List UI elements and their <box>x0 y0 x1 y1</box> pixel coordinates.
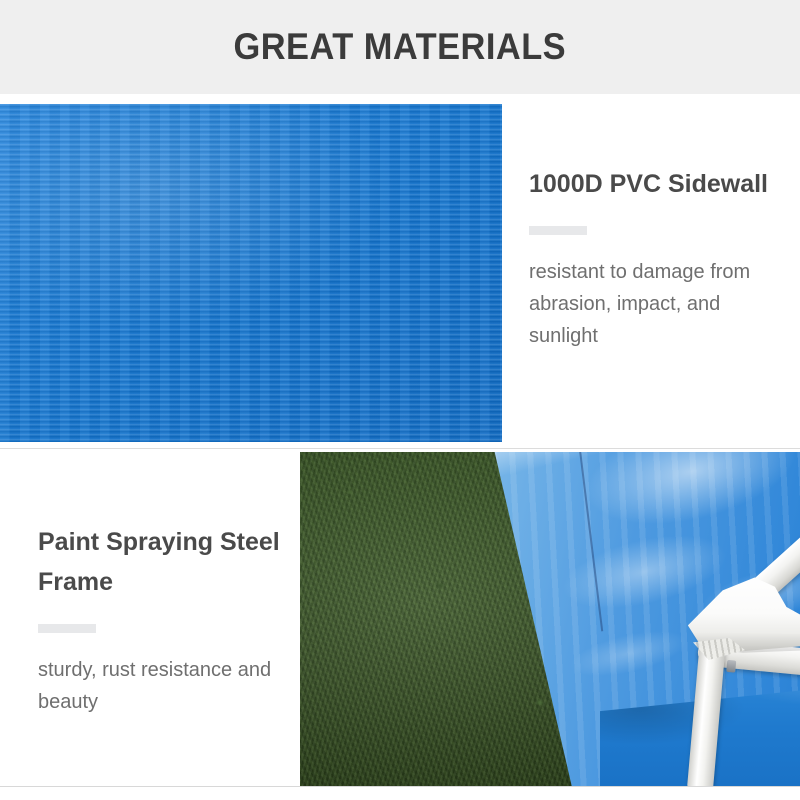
feature-body-pvc: resistant to damage from abrasion, impac… <box>529 256 779 352</box>
frame-corner-joint <box>685 572 800 664</box>
feature-heading-pvc: 1000D PVC Sidewall <box>529 164 779 204</box>
section-divider-line <box>0 448 800 449</box>
feature-body-frame: sturdy, rust resistance and beauty <box>38 654 288 718</box>
heading-divider-bar <box>38 624 96 633</box>
heading-divider-bar <box>529 226 587 235</box>
product-photo-corner-joint <box>300 452 800 786</box>
infographic-page: GREAT MATERIALS 1000D PVC Sidewall resis… <box>0 0 800 800</box>
feature-text-frame: Paint Spraying Steel Frame sturdy, rust … <box>38 522 288 718</box>
page-title: GREAT MATERIALS <box>234 26 567 68</box>
bottom-divider-line <box>0 786 800 787</box>
pvc-fabric-swatch <box>0 104 502 442</box>
fabric-sheen <box>0 104 502 442</box>
feature-row-frame: Paint Spraying Steel Frame sturdy, rust … <box>0 452 800 786</box>
header-band: GREAT MATERIALS <box>0 0 800 94</box>
feature-row-pvc: 1000D PVC Sidewall resistant to damage f… <box>0 104 800 442</box>
feature-text-pvc: 1000D PVC Sidewall resistant to damage f… <box>529 164 779 352</box>
feature-heading-frame: Paint Spraying Steel Frame <box>38 522 288 602</box>
